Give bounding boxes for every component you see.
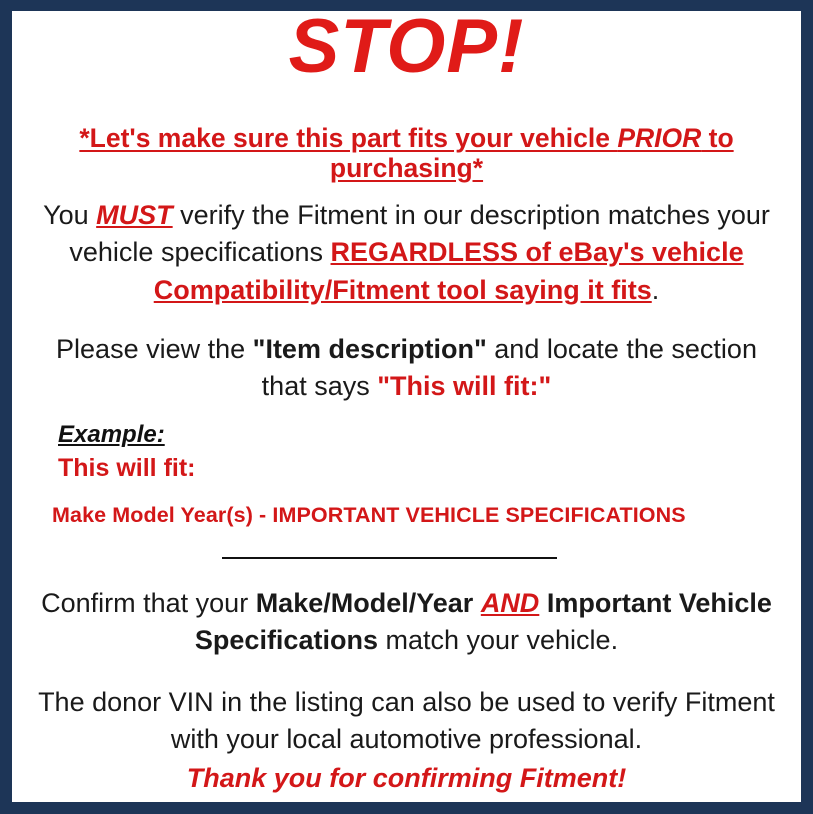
example-label: Example: [58,421,196,450]
stop-heading: STOP! [12,11,801,85]
example-fit-line: This will fit: [58,453,196,484]
item-description-label: "Item description" [253,334,487,364]
example-block: Example: This will fit: [58,421,196,484]
make-model-year-emphasis: Make/Model/Year [256,588,474,618]
must-part-3: . [652,275,660,305]
must-part-1: You [43,200,96,230]
confirm-part-4: match your vehicle. [378,625,618,655]
item-desc-part-1: Please view the [56,334,253,364]
fitment-notice-banner: STOP! *Let's make sure this part fits yo… [0,0,813,814]
confirm-part-3 [539,588,547,618]
item-description-paragraph: Please view the "Item description" and l… [12,331,801,406]
must-emphasis: MUST [96,200,173,230]
section-divider [222,557,557,559]
example-spec-line: Make Model Year(s) - IMPORTANT VEHICLE S… [52,503,686,528]
and-emphasis: AND [481,588,540,618]
notice-card: STOP! *Let's make sure this part fits yo… [12,11,801,802]
thank-you-line: Thank you for confirming Fitment! [12,763,801,794]
confirm-part-1: Confirm that your [41,588,256,618]
donor-vin-paragraph: The donor VIN in the listing can also be… [12,684,801,759]
confirm-paragraph: Confirm that your Make/Model/Year AND Im… [12,585,801,660]
confirm-part-2 [473,588,481,618]
tagline-prior-emphasis: PRIOR [617,123,701,153]
this-will-fit-label: "This will fit:" [377,371,551,401]
tagline-before: *Let's make sure this part fits your veh… [79,123,617,153]
tagline: *Let's make sure this part fits your veh… [12,124,801,183]
must-verify-paragraph: You MUST verify the Fitment in our descr… [12,197,801,309]
